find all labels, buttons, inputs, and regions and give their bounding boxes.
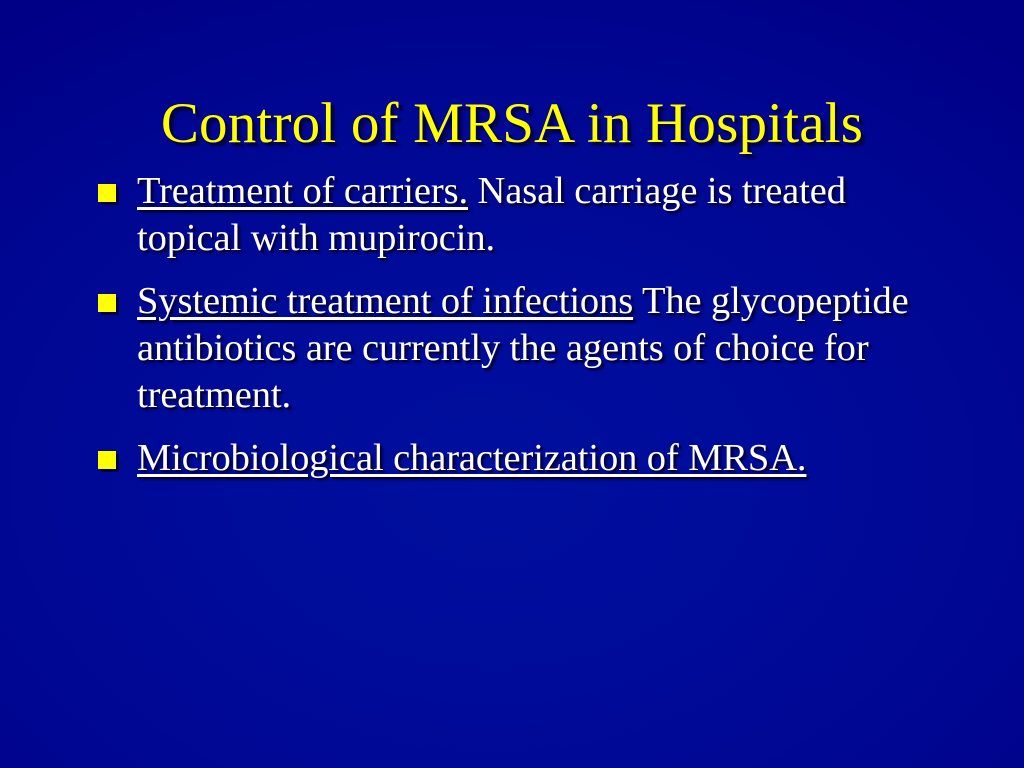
square-bullet-icon [98, 294, 116, 312]
presentation-slide: Control of MRSA in Hospitals Treatment o… [0, 0, 1024, 768]
bullet-underlined-lead: Systemic treatment of infections [137, 280, 633, 322]
bullet-text: Microbiological characterization of MRSA… [137, 435, 897, 482]
bullet-underlined-lead: Microbiological characterization of MRSA… [137, 437, 806, 479]
square-bullet-icon [98, 184, 116, 202]
page-title: Control of MRSA in Hospitals [161, 94, 863, 154]
bullet-text: Systemic treatment of infections The gly… [137, 278, 927, 419]
list-item: Systemic treatment of infections The gly… [96, 278, 976, 419]
bullet-underlined-lead: Treatment of carriers. [137, 170, 468, 212]
slide-body: Treatment of carriers. Nasal carriage is… [96, 168, 976, 496]
list-item: Microbiological characterization of MRSA… [96, 435, 976, 482]
list-item: Treatment of carriers. Nasal carriage is… [96, 168, 976, 262]
bullet-text: Treatment of carriers. Nasal carriage is… [137, 168, 957, 262]
square-bullet-icon [98, 451, 116, 469]
